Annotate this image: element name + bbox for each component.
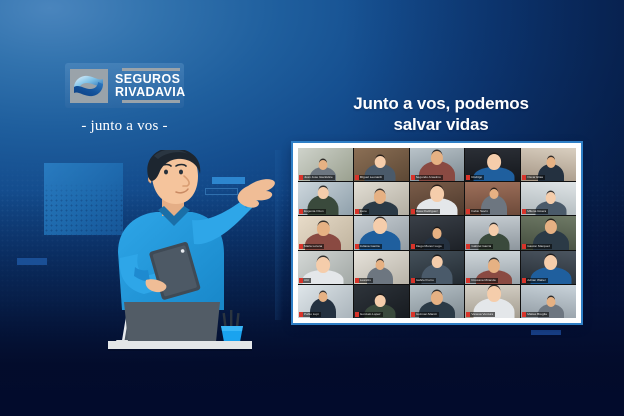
video-tile[interactable]: Gaston Marquez [521, 216, 576, 249]
participant-name: Diego Munoz Lugo [416, 244, 442, 249]
muted-mic-icon [411, 278, 415, 283]
headline-line-1: Junto a vos, podemos [332, 94, 550, 115]
video-tile[interactable]: Irene [354, 182, 409, 215]
muted-mic-icon [411, 175, 415, 180]
participant-name: Juliana Garcia [360, 244, 380, 249]
participant-name-badge: Vanesa Ventura [466, 312, 495, 317]
video-tile[interactable]: Rosa Rodriguez [410, 182, 465, 215]
participant-face [487, 286, 501, 302]
participant-name-badge: Fabio Savini [466, 209, 490, 214]
participant-name-badge: Gonzalo Lopez [355, 312, 383, 317]
participant-name: Irene [360, 209, 367, 214]
muted-mic-icon [299, 312, 303, 317]
participant-name-badge: Guzman Maroti [411, 312, 439, 317]
participant-name-badge: Gabriel Ferro [411, 278, 436, 283]
muted-mic-icon [299, 278, 303, 283]
video-tile[interactable]: Miguel Leonardi [354, 148, 409, 181]
promo-graphic: SEGUROS RIVADAVIA - junto a vos - Junto … [0, 0, 624, 416]
muted-mic-icon [411, 209, 415, 214]
participant-face [431, 151, 443, 165]
participant-name: Juan Jose Gianfelice [304, 175, 333, 180]
participant-name-badge: Adrian Walter [522, 278, 548, 283]
participant-name: Fabio Savini [471, 209, 488, 214]
muted-mic-icon [466, 278, 470, 283]
logo-word-line1: SEGUROS [115, 73, 186, 86]
participant-name-badge: Maria Lorena [299, 244, 324, 249]
video-tile[interactable]: Gabriel Ferro [410, 251, 465, 284]
video-tile[interactable]: Gonzalo Lopez [354, 285, 409, 318]
participant-name: Leandro [360, 278, 371, 283]
video-tile[interactable]: Leandro [354, 251, 409, 284]
muted-mic-icon [466, 244, 470, 249]
muted-mic-icon [299, 175, 303, 180]
muted-mic-icon [466, 175, 470, 180]
participant-name: Vanesa Ventura [471, 312, 493, 317]
character-illustration [88, 150, 278, 360]
participant-name: Rodrigo [471, 175, 482, 180]
participant-name-badge: Leandro [355, 278, 373, 283]
participant-name-badge: Rodrigo [466, 175, 484, 180]
participant-name: Maria Lorena [304, 244, 322, 249]
participant-face [544, 255, 558, 271]
participant-name-badge: Milena Givera [522, 209, 548, 214]
video-tile[interactable]: Maria Lorena [298, 216, 353, 249]
participant-name-badge: Juan Jose Gianfelice [299, 175, 335, 180]
participant-face [374, 190, 386, 204]
participant-name: Milena Givera [527, 209, 546, 214]
participant-name-badge: Irene [355, 209, 369, 214]
desk-shadow [108, 349, 252, 351]
muted-mic-icon [411, 312, 415, 317]
participant-face [488, 224, 499, 236]
video-tile[interactable]: Vanesa Ventura [465, 285, 520, 318]
participant-face [375, 295, 386, 307]
video-tile[interactable]: Rodrigo [465, 148, 520, 181]
participant-name-badge: Oscar Elias [522, 175, 545, 180]
video-tile[interactable]: Segundo Anselmo [410, 148, 465, 181]
participant-name: Gonzalo Lopez [360, 312, 381, 317]
muted-mic-icon [466, 312, 470, 317]
headline-line-2: salvar vidas [332, 115, 550, 136]
video-tile[interactable]: Juan Jose Gianfelice [298, 148, 353, 181]
video-tile[interactable]: Matias Breglia [521, 285, 576, 318]
brand-logo: SEGUROS RIVADAVIA [65, 63, 184, 108]
participant-face [488, 259, 500, 273]
participant-name-badge: Rossana Miranda [466, 278, 497, 283]
participant-name: Rossana Miranda [471, 278, 495, 283]
video-tile[interactable]: Alci [298, 251, 353, 284]
video-tile[interactable]: Milena Givera [521, 182, 576, 215]
participant-name: Miguel Leonardi [360, 175, 382, 180]
participant-face [544, 220, 556, 234]
participant-name-badge: Miguel Leonardi [355, 175, 384, 180]
participant-name-badge: Diego Munoz Lugo [411, 244, 444, 249]
participant-name: Adrian Walter [527, 278, 546, 283]
participant-name: Rosa Rodriguez [416, 209, 438, 214]
participant-name-badge: Gabriel Garcia [466, 244, 493, 249]
logo-word-line2: RIVADAVIA [115, 86, 186, 99]
video-tile[interactable]: Eugenia Ozon [298, 182, 353, 215]
participant-face [375, 156, 386, 168]
participant-face [316, 257, 330, 273]
headline: Junto a vos, podemos salvar vidas [332, 94, 550, 135]
participant-name-badge: Gaston Marquez [522, 244, 552, 249]
muted-mic-icon [299, 244, 303, 249]
participant-face [487, 154, 501, 170]
video-tile[interactable]: Fabio Savini [465, 182, 520, 215]
participant-name: Pablo Lupi [304, 312, 319, 317]
video-tile[interactable]: Oscar Elias [521, 148, 576, 181]
participant-face [430, 186, 444, 202]
participant-name-badge: Alci [299, 278, 311, 283]
video-tile[interactable]: Gabriel Garcia [465, 216, 520, 249]
participant-name-badge: Pablo Lupi [299, 312, 321, 317]
muted-mic-icon [299, 209, 303, 214]
participant-name: Matias Breglia [527, 312, 547, 317]
participant-name: Gaston Marquez [527, 244, 550, 249]
muted-mic-icon [522, 175, 526, 180]
participant-name: Eugenia Ozon [304, 209, 324, 214]
participant-name-badge: Matias Breglia [522, 312, 549, 317]
video-tile[interactable]: Juliana Garcia [354, 216, 409, 249]
participant-face [545, 192, 556, 204]
logo-wordmark: SEGUROS RIVADAVIA [115, 73, 186, 99]
participant-name: Gabriel Ferro [416, 278, 434, 283]
participant-name: Gabriel Garcia [471, 244, 491, 249]
muted-mic-icon [522, 244, 526, 249]
muted-mic-icon [355, 278, 359, 283]
participant-name: Alci [304, 278, 309, 283]
video-call-panel: Juan Jose GianfeliceMiguel LeonardiSegun… [293, 143, 581, 323]
participant-face [431, 291, 443, 305]
participant-face [432, 256, 443, 268]
brand-tagline: - junto a vos - [65, 118, 184, 135]
participant-name: Oscar Elias [527, 175, 543, 180]
wave-ribbon-logomark-icon [70, 69, 108, 103]
participant-name: Guzman Maroti [416, 312, 437, 317]
logo-rule-top [122, 68, 180, 71]
participant-face [373, 218, 387, 234]
logo-rule-bottom [122, 100, 180, 103]
decorative-bar-left [17, 258, 47, 265]
muted-mic-icon [522, 312, 526, 317]
participant-name-badge: Rosa Rodriguez [411, 209, 440, 214]
decorative-bar-lower-right [531, 330, 561, 335]
muted-mic-icon [466, 209, 470, 214]
participant-face [317, 222, 329, 236]
muted-mic-icon [355, 175, 359, 180]
muted-mic-icon [355, 312, 359, 317]
video-tile[interactable]: Diego Munoz Lugo [410, 216, 465, 249]
muted-mic-icon [411, 244, 415, 249]
participant-name-badge: Juliana Garcia [355, 244, 382, 249]
video-tile[interactable]: Pablo Lupi [298, 285, 353, 318]
muted-mic-icon [355, 209, 359, 214]
participant-name-badge: Segundo Anselmo [411, 175, 443, 180]
participant-face [318, 187, 329, 199]
participant-name-badge: Eugenia Ozon [299, 209, 326, 214]
video-tile[interactable]: Adrian Walter [521, 251, 576, 284]
video-tile[interactable]: Guzman Maroti [410, 285, 465, 318]
desk-surface [108, 341, 252, 349]
muted-mic-icon [522, 209, 526, 214]
muted-mic-icon [522, 278, 526, 283]
muted-mic-icon [355, 244, 359, 249]
video-tile[interactable]: Rossana Miranda [465, 251, 520, 284]
participant-name: Segundo Anselmo [416, 175, 441, 180]
video-participant-grid: Juan Jose GianfeliceMiguel LeonardiSegun… [298, 148, 576, 318]
